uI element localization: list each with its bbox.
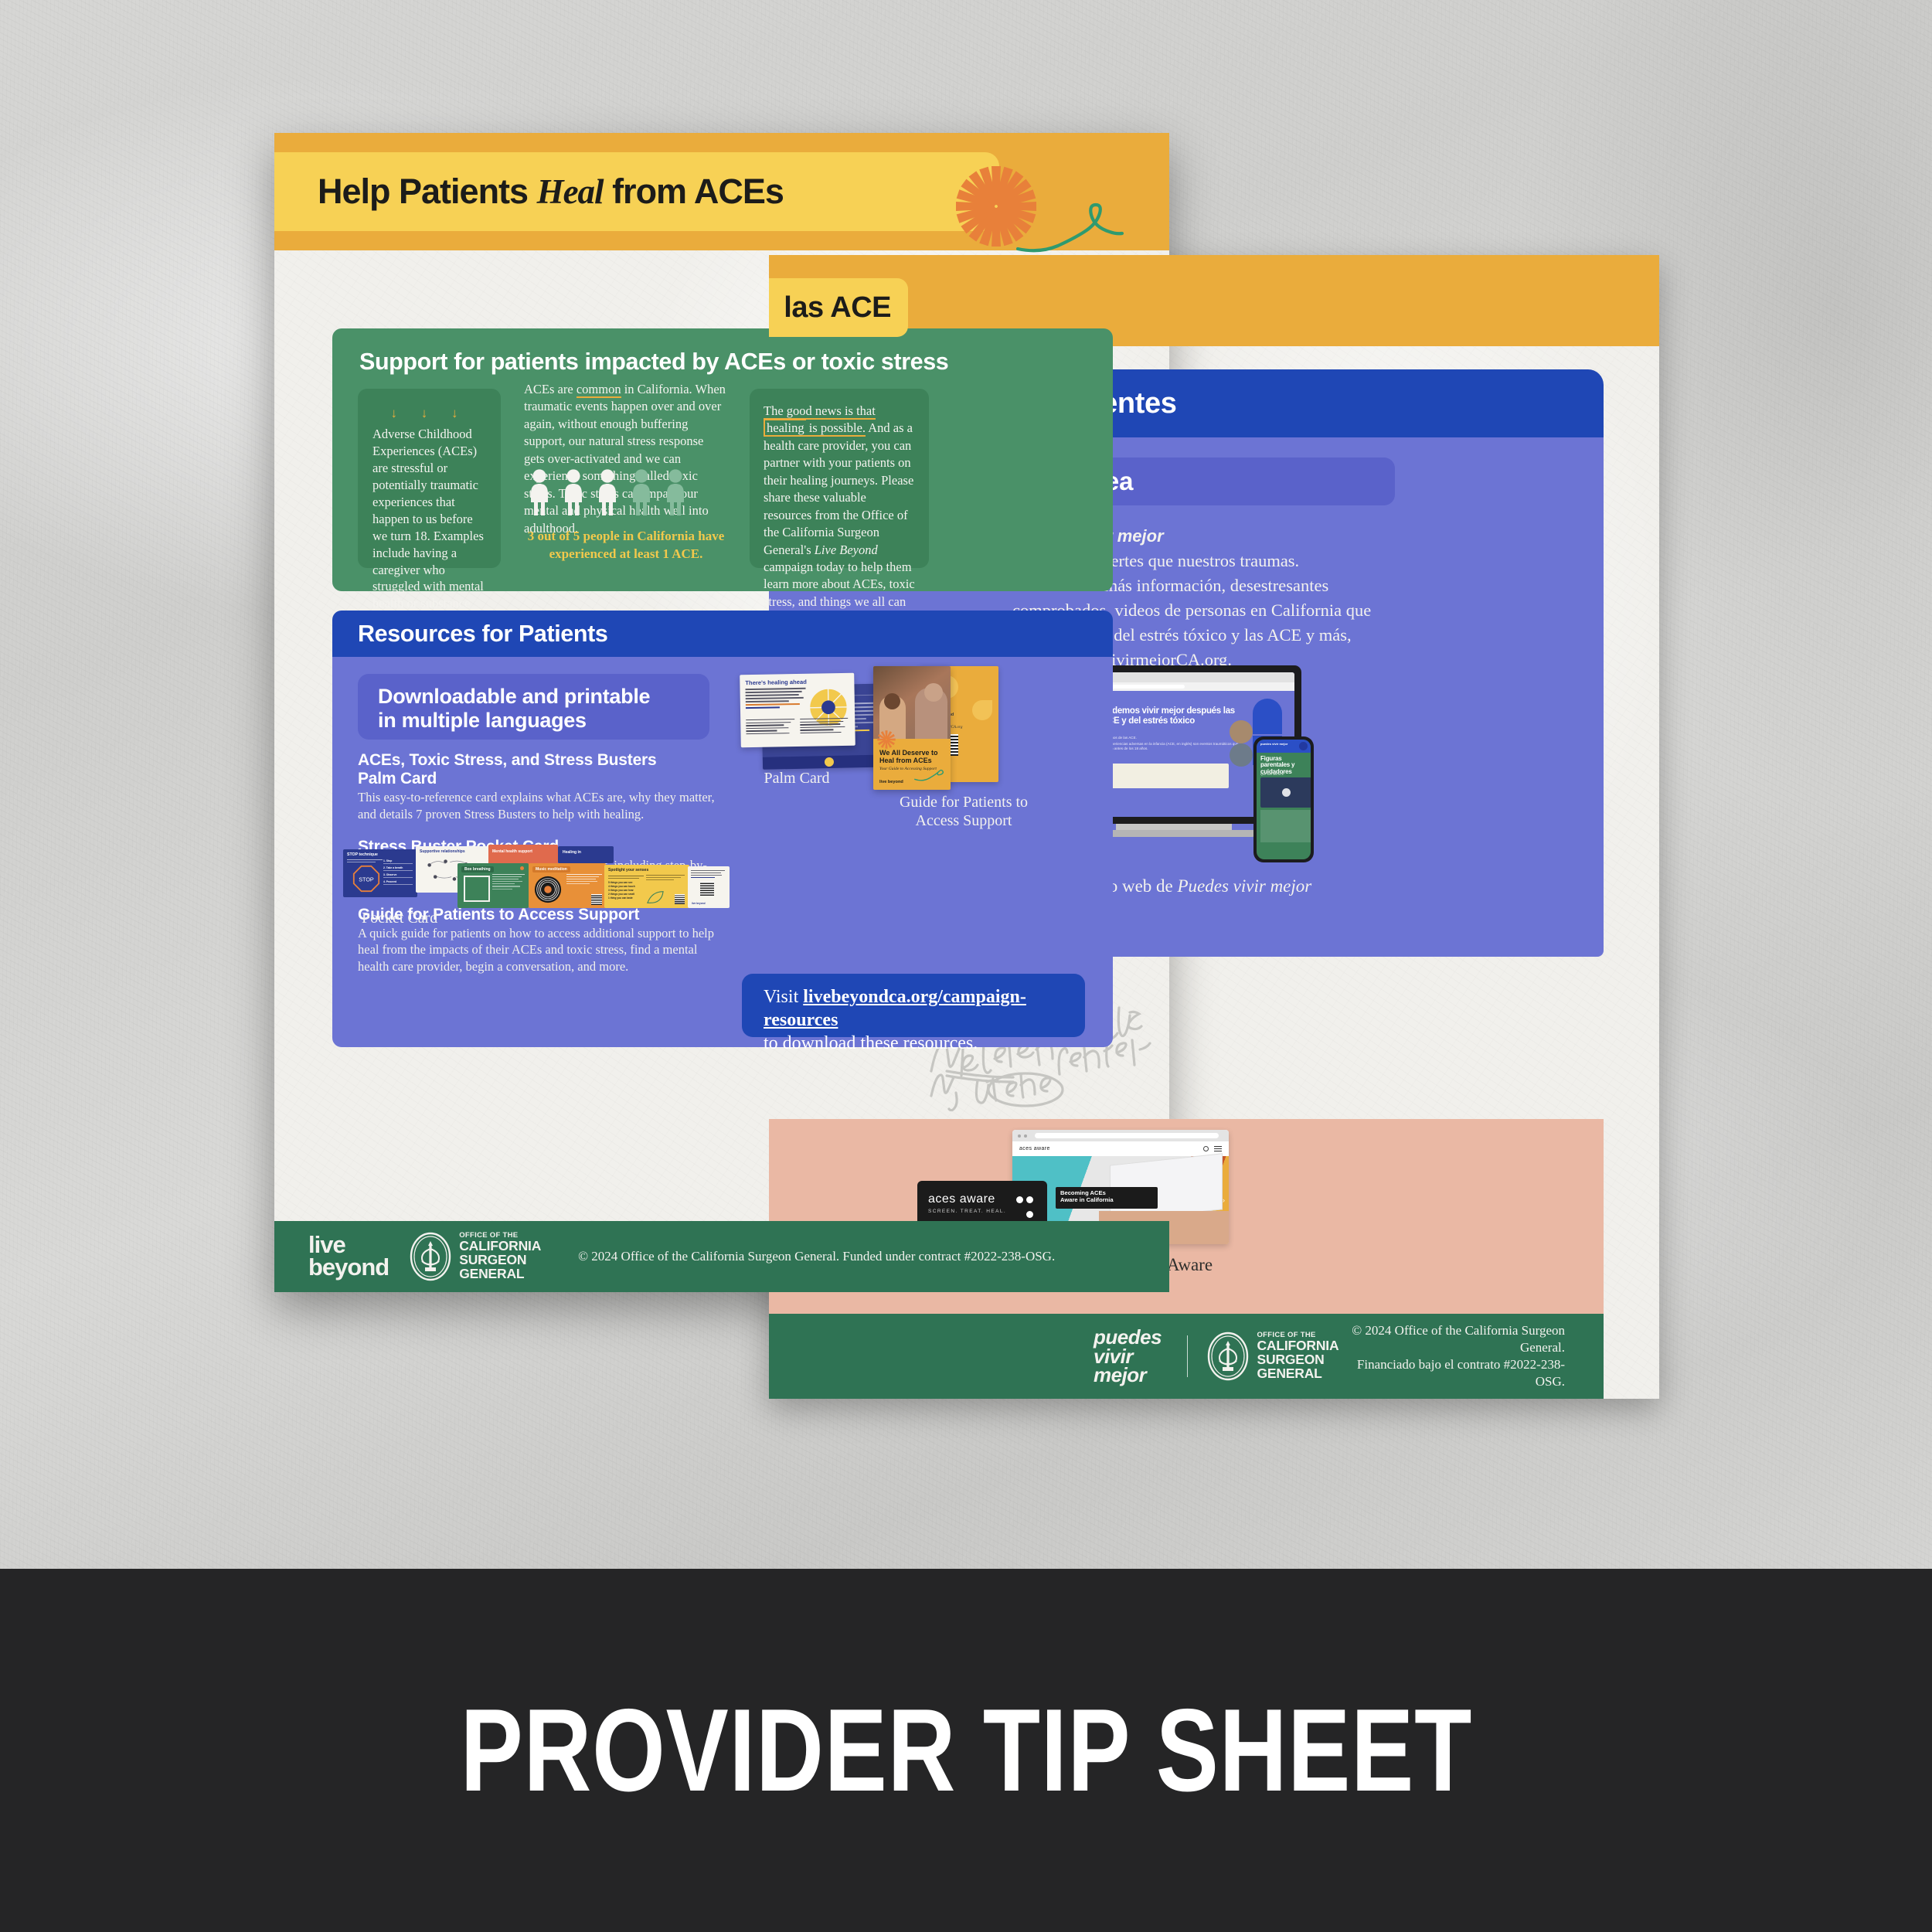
guide-caption-line1: Guide for Patients to: [900, 794, 1028, 811]
device-caption-italic: Puedes vivir mejor: [1178, 876, 1312, 896]
osg-logo-english: OFFICE OF THE CALIFORNIA SURGEON GENERAL: [409, 1232, 541, 1281]
goodnews-lead: The good news is that: [764, 403, 876, 420]
visit-prefix: Visit: [764, 987, 803, 1007]
goodnews-body: And as a health care provider, you can p…: [764, 420, 913, 556]
pocket-panel-label-6: Spotlight your senses: [608, 868, 648, 872]
osg-line-3: GENERAL: [1257, 1367, 1338, 1381]
guide-caption: Guide for Patients to Access Support: [859, 793, 1068, 830]
aces-video-title-1: Becoming ACEs: [1060, 1189, 1106, 1196]
common-underlined: common: [577, 382, 621, 398]
live-beyond-logo: live beyond: [308, 1234, 389, 1278]
support-section: Support for patients impacted by ACEs or…: [332, 328, 1113, 591]
lb-logo-line2: beyond: [308, 1257, 389, 1279]
spanish-footer: puedes vivir mejor OFFICE OF THE CALIFOR…: [769, 1314, 1604, 1399]
spanish-copyright-line2: Financiado bajo el contrato #2022-238-OS…: [1338, 1356, 1565, 1390]
visit-callout[interactable]: Visit livebeyondca.org/campaign-resource…: [742, 974, 1085, 1037]
spanish-copyright-line1: © 2024 Office of the California Surgeon …: [1338, 1322, 1565, 1356]
palm-card-title-1: ACEs, Toxic Stress, and Stress Busters: [358, 751, 721, 770]
palm-card-art-heading: There's healing ahead: [745, 679, 807, 686]
title-italic: Heal: [537, 172, 604, 211]
resources-body: Downloadable and printable in multiple l…: [332, 657, 1113, 1047]
pocket-panel-label-5: Music meditation: [532, 866, 570, 872]
pocket-card-caption: Pocket Card: [343, 909, 482, 927]
palm-card-caption: Palm Card: [723, 769, 870, 787]
pocket-panel-spotlight-senses: Spotlight your senses 5 things you can s…: [604, 865, 689, 908]
phone-logo: puedes vivir mejor: [1260, 743, 1287, 746]
pocket-panel-mental-health: Mental health support: [488, 845, 558, 865]
guide-front-art: We All Deserve to Heal from ACEs Your Gu…: [873, 666, 951, 790]
device-sub-1: Hablemos de las ACE.: [1101, 736, 1248, 740]
caption-label: PROVIDER TIP SHEET: [460, 1683, 1471, 1818]
aces-aware-header-logo: aces aware: [1019, 1146, 1050, 1151]
surgeon-general-seal-icon: [409, 1232, 452, 1281]
good-news-card: The good news is that healing is possibl…: [750, 389, 929, 568]
common-lead: ACEs are: [524, 382, 577, 396]
english-footer: live beyond OFFICE OF THE CALIFORNIA SUR…: [274, 1221, 1169, 1292]
footer-divider: [1187, 1335, 1188, 1377]
spanish-header-pill: las ACE: [769, 278, 908, 337]
pictogram-people-icon: [529, 469, 723, 517]
qr-code-icon: [700, 882, 714, 896]
pocket-panel-healing: Healing in: [558, 846, 614, 863]
downloadable-line1: Downloadable and printable: [378, 685, 709, 709]
pocket-panel-box-breathing: Box breathing: [457, 863, 529, 908]
pvm-logo-line2: mejor: [1094, 1366, 1168, 1385]
support-section-heading: Support for patients impacted by ACEs or…: [359, 349, 948, 376]
guide-desc: A quick guide for patients on how to acc…: [358, 925, 721, 974]
svg-text:STOP: STOP: [359, 876, 374, 883]
pocket-panel-stop: STOP technique STOP 1. Stop 2. Take a br…: [343, 849, 417, 897]
downloadable-pill: Downloadable and printable in multiple l…: [358, 674, 709, 740]
device-sub-2: Las experiencias adversas en la infancia…: [1101, 742, 1248, 751]
pocket-card-art-group: STOP technique STOP 1. Stop 2. Take a br…: [343, 845, 730, 906]
goodnews-highlight: healing: [764, 419, 806, 437]
aces-statistic: 3 out of 5 people in California have exp…: [522, 528, 730, 563]
guide-art-line1: We All Deserve to: [879, 749, 938, 757]
goodnews-lead-end: is possible.: [806, 420, 866, 437]
pocket-panel-back: live beyond: [688, 866, 730, 908]
pocket-panel-label-4: Box breathing: [461, 866, 494, 872]
pocket-panel-music-meditation: Music meditation: [529, 863, 606, 908]
goodnews-campaign: Live Beyond: [815, 543, 878, 557]
squiggle-icon: [1016, 202, 1124, 257]
phone-mockup-icon: puedes vivir mejor Figuras parentales y …: [1253, 736, 1314, 862]
title-part-1: Help Patients: [318, 172, 537, 211]
visit-suffix: to download these resources.: [764, 1033, 978, 1053]
palm-card-front-art: There's healing ahead: [740, 673, 855, 748]
resources-section: Resources for Patients Downloadable and …: [332, 611, 1113, 1047]
pocket-panel-label-1: Supportive relationships: [420, 849, 465, 854]
device-headline-1: Podemos vivir mejor después: [1101, 706, 1221, 716]
visit-text: Visit livebeyondca.org/campaign-resource…: [764, 985, 1085, 1055]
page-title: Help Patients Heal from ACEs: [318, 172, 784, 212]
downloadable-line2: in multiple languages: [378, 709, 709, 733]
english-header-pill: Help Patients Heal from ACEs: [274, 152, 999, 231]
caption-bar: PROVIDER TIP SHEET: [0, 1569, 1932, 1932]
english-copyright: © 2024 Office of the California Surgeon …: [578, 1249, 1055, 1264]
resources-heading: Resources for Patients: [358, 621, 607, 648]
search-icon[interactable]: [1203, 1146, 1209, 1151]
visit-link[interactable]: livebeyondca.org/campaign-resources: [764, 987, 1026, 1030]
puedes-vivir-mejor-logo: puedes vivir mejor: [1094, 1328, 1168, 1385]
monitor-base: [1091, 830, 1257, 837]
good-news-text: The good news is that healing is possibl…: [764, 403, 915, 628]
osg-line-3: GENERAL: [459, 1267, 541, 1281]
carousel-next-icon[interactable]: ›: [1223, 1196, 1225, 1204]
palm-card-desc: This easy-to-reference card explains wha…: [358, 789, 721, 821]
qr-code-icon: [591, 894, 602, 905]
hamburger-menu-icon[interactable]: [1214, 1146, 1222, 1152]
monitor-neck: [1116, 824, 1232, 830]
guide-art-logo: live beyond: [879, 781, 903, 785]
spanish-page-title: las ACE: [784, 291, 891, 325]
pocket-panel-label-0: STOP technique: [347, 852, 378, 857]
aces-definition-card: ↓ ↓ ↓ Adverse Childhood Experiences (ACE…: [358, 389, 501, 568]
guide-caption-line2: Access Support: [916, 812, 1012, 829]
pocket-panel-label-3: Healing in: [563, 850, 581, 855]
title-part-2: from ACEs: [604, 172, 784, 211]
qr-code-icon: [675, 894, 685, 904]
pvm-logo-line1: puedes vivir: [1094, 1328, 1168, 1366]
guide-art-line2: Heal from ACEs: [879, 757, 932, 764]
pocket-panel-label-2: Mental health support: [492, 849, 532, 854]
surgeon-general-seal-icon: [1206, 1332, 1250, 1381]
list-item: ACEs, Toxic Stress, and Stress Busters P…: [358, 751, 721, 822]
aces-video-title-2: Aware in California: [1060, 1196, 1114, 1203]
palm-card-title-2: Palm Card: [358, 770, 721, 788]
osg-logo-spanish: OFFICE OF THE CALIFORNIA SURGEON GENERAL: [1206, 1332, 1338, 1381]
spanish-copyright: © 2024 Office of the California Surgeon …: [1338, 1322, 1565, 1390]
down-arrows-icon: ↓ ↓ ↓: [372, 406, 486, 421]
phone-sub: Qué son las ACE: [1260, 772, 1284, 776]
resources-header: Resources for Patients: [332, 611, 1113, 657]
